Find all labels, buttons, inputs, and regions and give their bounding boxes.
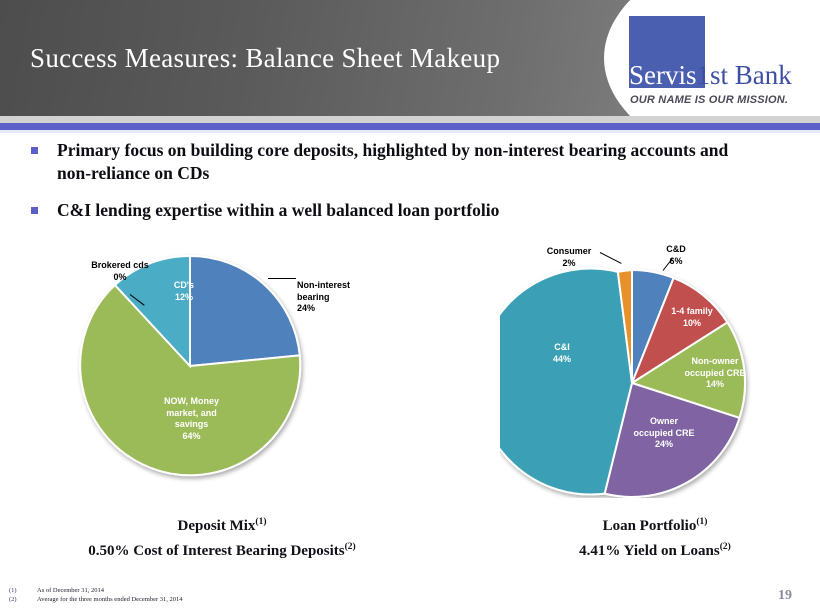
loan-label-owner-occupied-cre: Owner occupied CRE 24% [619,416,709,451]
loan-label-non-owner-occupied-cre: Non-owner occupied CRE 14% [670,356,760,391]
logo-word-servis: Servis [629,60,697,90]
deposit-pie-wrap: Brokered cds 0% CD's 12% Non-interest be… [52,238,412,488]
loan-pie-svg [500,238,820,498]
deposit-label-now-money-market: NOW, Money market, and savings 64% [144,396,239,442]
loan-label-1-4-family: 1-4 family 10% [648,306,736,329]
footnote-row: (1) As of December 31, 2014 [9,586,183,595]
deposit-label-non-interest-bearing: Non-interest bearing 24% [297,280,397,315]
deposit-leader-non-interest [268,278,296,279]
logo-word-1stbank: 1st Bank [697,60,792,90]
bullet-marker-icon [31,147,38,154]
footnote-text: Average for the three months ended Decem… [37,595,183,604]
deposit-caption-line1: Deposit Mix(1) [32,512,412,537]
loan-caption-line1: Loan Portfolio(1) [490,512,820,537]
loan-portfolio-chart: Consumer 2% C&D 6% 1-4 family 10% Non-ow… [500,238,820,488]
company-logo: Servis1st Bank OUR NAME IS OUR MISSION. [629,16,809,111]
loan-pie-wrap: Consumer 2% C&D 6% 1-4 family 10% Non-ow… [500,238,820,488]
logo-wordmark: Servis1st Bank [629,60,819,90]
divider-blue [0,123,820,130]
divider-pale [0,130,820,133]
page-number: 19 [778,588,792,604]
footnotes: (1) As of December 31, 2014 (2) Average … [9,586,183,604]
page-title: Success Measures: Balance Sheet Makeup [30,43,500,74]
slide: Success Measures: Balance Sheet Makeup S… [0,0,820,615]
bullet-text: Primary focus on building core deposits,… [57,139,757,185]
divider-gray [0,116,820,123]
loan-caption-line2: 4.41% Yield on Loans(2) [490,537,820,562]
bullet-text: C&I lending expertise within a well bala… [57,199,757,222]
loan-label-c-and-d: C&D 6% [640,244,712,267]
bullet-item: Primary focus on building core deposits,… [0,139,820,185]
deposit-label-cds: CD's 12% [144,280,224,303]
loan-label-consumer: Consumer 2% [528,246,610,269]
logo-tagline: OUR NAME IS OUR MISSION. [630,94,788,106]
bullet-list: Primary focus on building core deposits,… [0,139,820,236]
footnote-number: (1) [9,586,37,595]
deposit-mix-caption: Deposit Mix(1) 0.50% Cost of Interest Be… [32,512,412,562]
deposit-mix-chart: Brokered cds 0% CD's 12% Non-interest be… [52,238,412,488]
loan-slice-c-and-i [500,269,632,495]
bullet-item: C&I lending expertise within a well bala… [0,199,820,222]
footnote-row: (2) Average for the three months ended D… [9,595,183,604]
deposit-slice-non-interest-bearing [190,256,300,366]
loan-label-c-and-i: C&I 44% [532,342,592,365]
deposit-caption-line2: 0.50% Cost of Interest Bearing Deposits(… [32,537,412,562]
footnote-text: As of December 31, 2014 [37,586,104,595]
footnote-number: (2) [9,595,37,604]
bullet-marker-icon [31,207,38,214]
loan-portfolio-caption: Loan Portfolio(1) 4.41% Yield on Loans(2… [490,512,820,562]
